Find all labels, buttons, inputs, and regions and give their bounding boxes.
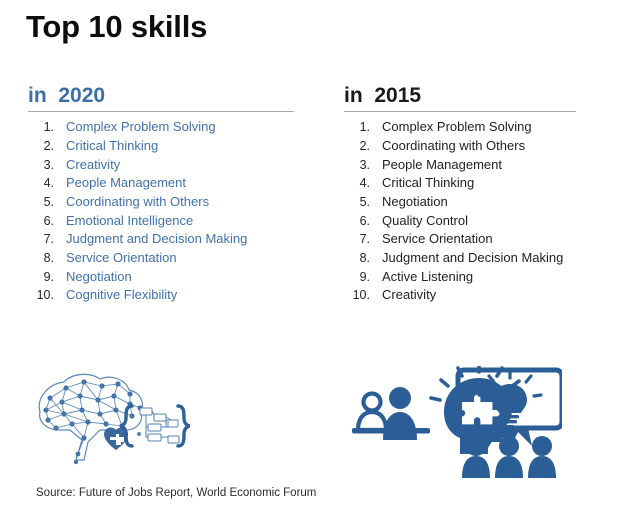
list-item-number: 2. bbox=[28, 139, 54, 153]
list-item-number: 6. bbox=[28, 214, 54, 228]
list-item-number: 9. bbox=[344, 270, 370, 284]
list-item-number: 2. bbox=[344, 139, 370, 153]
list-item-label: People Management bbox=[370, 157, 502, 172]
list-item-label: Negotiation bbox=[54, 269, 132, 284]
skills-column-2015: in 2015 1. Complex Problem Solving 2. Co… bbox=[344, 84, 578, 306]
list-item: 7. Service Orientation bbox=[344, 231, 578, 250]
list-item-number: 1. bbox=[344, 120, 370, 134]
list-item-label: Judgment and Decision Making bbox=[54, 231, 247, 246]
list-item-number: 8. bbox=[28, 251, 54, 265]
list-item: 10. Creativity bbox=[344, 287, 578, 306]
list-item-label: Judgment and Decision Making bbox=[370, 250, 563, 265]
list-item-number: 1. bbox=[28, 120, 54, 134]
page-title: Top 10 skills bbox=[26, 10, 207, 44]
list-item: 9. Negotiation bbox=[28, 269, 296, 288]
list-item-number: 5. bbox=[28, 195, 54, 209]
list-item-label: Service Orientation bbox=[370, 231, 493, 246]
list-item: 1. Complex Problem Solving bbox=[28, 119, 296, 138]
two-people-at-table-icon bbox=[352, 387, 430, 440]
list-item-label: Cognitive Flexibility bbox=[54, 287, 177, 302]
list-item-label: People Management bbox=[54, 175, 186, 190]
neural-network-brain-illustration bbox=[26, 368, 201, 481]
column-heading-2020: in 2020 bbox=[28, 84, 296, 111]
list-item-label: Creativity bbox=[54, 157, 120, 172]
list-item-number: 4. bbox=[28, 176, 54, 190]
list-item-number: 6. bbox=[344, 214, 370, 228]
list-item-number: 7. bbox=[344, 232, 370, 246]
list-item: 8. Service Orientation bbox=[28, 250, 296, 269]
list-item: 5. Negotiation bbox=[344, 194, 578, 213]
list-item: 5. Coordinating with Others bbox=[28, 194, 296, 213]
list-item: 8. Judgment and Decision Making bbox=[344, 250, 578, 269]
list-item-number: 9. bbox=[28, 270, 54, 284]
list-item-label: Coordinating with Others bbox=[370, 138, 525, 153]
column-divider-2015 bbox=[344, 111, 576, 112]
list-item: 1. Complex Problem Solving bbox=[344, 119, 578, 138]
column-heading-2015: in 2015 bbox=[344, 84, 578, 111]
list-item-label: Quality Control bbox=[370, 213, 468, 228]
list-item: 9. Active Listening bbox=[344, 269, 578, 288]
list-item-number: 3. bbox=[344, 158, 370, 172]
list-item-label: Service Orientation bbox=[54, 250, 177, 265]
list-item-label: Critical Thinking bbox=[54, 138, 158, 153]
list-item-number: 7. bbox=[28, 232, 54, 246]
list-item-label: Emotional Intelligence bbox=[54, 213, 193, 228]
skills-column-2020: in 2020 1. Complex Problem Solving 2. Cr… bbox=[28, 84, 296, 306]
list-item-number: 10. bbox=[28, 288, 54, 302]
skill-list-2015: 1. Complex Problem Solving 2. Coordinati… bbox=[344, 119, 578, 306]
list-item: 3. Creativity bbox=[28, 157, 296, 176]
code-braces-flowchart-icon bbox=[120, 406, 190, 446]
list-item-label: Complex Problem Solving bbox=[54, 119, 216, 134]
list-item: 4. Critical Thinking bbox=[344, 175, 578, 194]
list-item-label: Negotiation bbox=[370, 194, 448, 209]
list-item-label: Creativity bbox=[370, 287, 436, 302]
skill-list-2020: 1. Complex Problem Solving 2. Critical T… bbox=[28, 119, 296, 306]
list-item: 7. Judgment and Decision Making bbox=[28, 231, 296, 250]
list-item-label: Critical Thinking bbox=[370, 175, 474, 190]
list-item-label: Active Listening bbox=[370, 269, 473, 284]
list-item-number: 8. bbox=[344, 251, 370, 265]
list-item: 6. Quality Control bbox=[344, 213, 578, 232]
list-item-label: Coordinating with Others bbox=[54, 194, 209, 209]
source-note: Source: Future of Jobs Report, World Eco… bbox=[36, 487, 316, 499]
column-divider-2020 bbox=[28, 111, 294, 112]
list-item-number: 4. bbox=[344, 176, 370, 190]
list-item: 4. People Management bbox=[28, 175, 296, 194]
list-item-label: Complex Problem Solving bbox=[370, 119, 532, 134]
list-item: 2. Coordinating with Others bbox=[344, 138, 578, 157]
list-item: 2. Critical Thinking bbox=[28, 138, 296, 157]
list-item-number: 5. bbox=[344, 195, 370, 209]
puzzle-heart-badge bbox=[104, 427, 141, 450]
three-people-audience-icon bbox=[462, 436, 556, 478]
list-item-number: 10. bbox=[344, 288, 370, 302]
list-item: 10. Cognitive Flexibility bbox=[28, 287, 296, 306]
list-item: 6. Emotional Intelligence bbox=[28, 213, 296, 232]
list-item: 3. People Management bbox=[344, 157, 578, 176]
collaboration-ideas-illustration bbox=[352, 366, 562, 483]
list-item-number: 3. bbox=[28, 158, 54, 172]
